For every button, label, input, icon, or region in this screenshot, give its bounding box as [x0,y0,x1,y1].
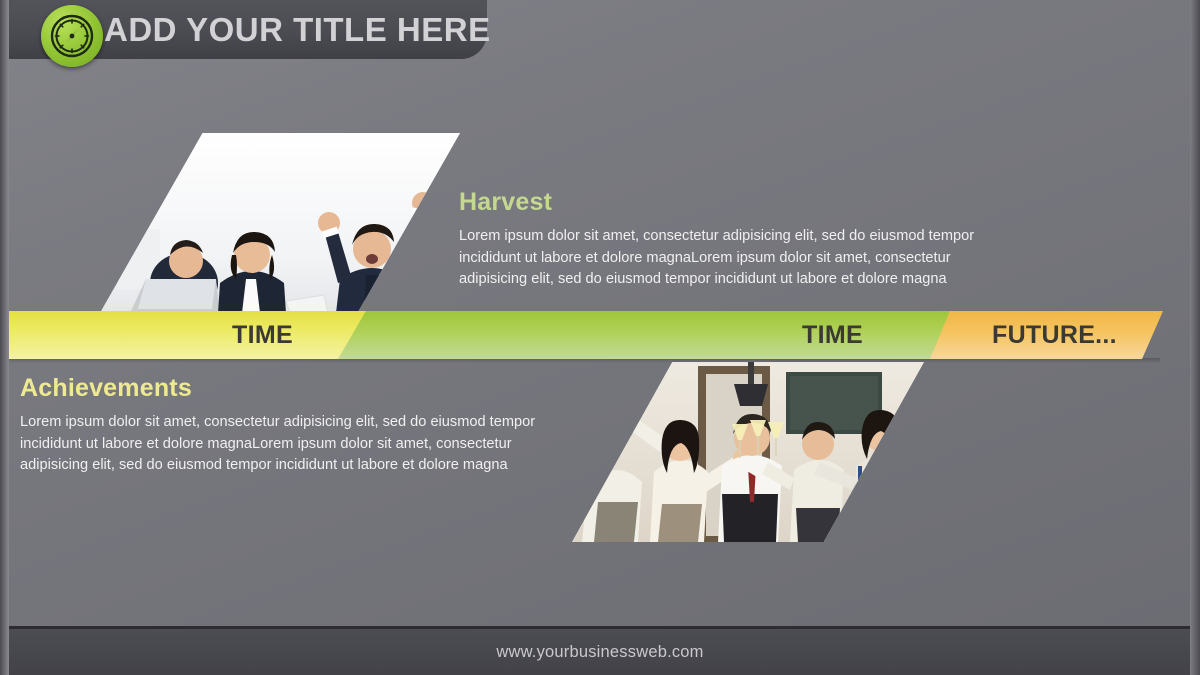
right-edge-rail [1190,0,1200,675]
harvest-text-block: Harvest Lorem ipsum dolor sit amet, cons… [459,188,1004,291]
footer-url[interactable]: www.yourbusinessweb.com [496,643,703,662]
achievements-body: Lorem ipsum dolor sit amet, consectetur … [20,412,580,477]
compass-icon [41,5,103,67]
achievements-heading: Achievements [20,374,580,403]
photo-achievements [572,362,924,542]
photo-achievements-image [572,362,924,542]
timeline-ribbon: TIME TIME FUTURE... [0,311,1200,359]
harvest-body: Lorem ipsum dolor sit amet, consectetur … [459,226,1004,291]
timeline-label-past: TIME [232,311,322,359]
left-edge-rail [0,0,9,675]
photo-harvest-image [100,133,460,313]
timeline-label-future: FUTURE... [992,311,1142,359]
harvest-heading: Harvest [459,188,1004,217]
achievements-text-block: Achievements Lorem ipsum dolor sit amet,… [20,374,580,477]
footer-bar: www.yourbusinessweb.com [0,626,1200,675]
page-title: ADD YOUR TITLE HERE [104,11,491,49]
slide-canvas: Harvest Lorem ipsum dolor sit amet, cons… [0,0,1200,675]
celebration-scene-illustration [100,133,460,313]
photo-harvest [100,133,460,313]
timeline-label-present: TIME [802,311,892,359]
toast-scene-illustration [572,362,924,542]
